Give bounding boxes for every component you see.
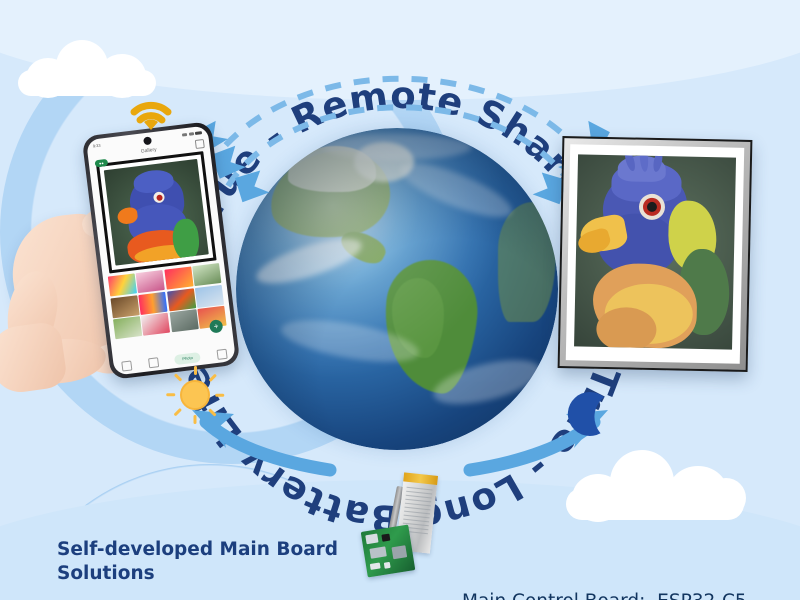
status-time: 9:33 [92,143,100,149]
list-item [167,288,196,311]
phone-hero-photo[interactable] [96,151,217,273]
list-item [136,270,165,293]
phone-app-title: Gallery [140,146,156,154]
list-item [195,284,224,307]
digital-photo-frame[interactable] [558,136,753,372]
frame-parrot-photo [574,154,736,349]
hero-parrot-photo [104,159,209,266]
poster-canvas: True - Remote Sharing True - Long Batter… [0,0,800,600]
list-item [139,291,168,314]
nav-item-right[interactable] [216,349,227,360]
spec-main-control-board: Main Control Board: ESP32-C5 [462,589,792,600]
list-item [164,266,193,289]
list-item [108,273,137,296]
list-item [113,316,142,339]
frame-border [558,136,753,372]
moon-icon [560,388,614,442]
caption-right: Main Control Board: ESP32-C5 Battery: 50… [462,536,792,600]
list-item [169,309,198,332]
cast-icon[interactable] [195,139,205,149]
hardware-group [362,470,454,582]
nav-item-left[interactable] [122,360,133,371]
arrow-top-dashed-inner [228,107,572,186]
list-item [141,313,170,336]
wifi-icon [124,92,178,134]
sun-icon [166,366,224,424]
nav-item-mid[interactable] [148,357,159,368]
caption-left: Self-developed Main Board Solutions [57,538,357,585]
add-photo-button[interactable]: + [209,319,223,333]
phone-thumbnail-grid[interactable] [108,263,227,339]
list-item [110,295,139,318]
arrow-top-dashed-outer [208,79,592,168]
nav-item-photo[interactable]: Photo [174,352,201,365]
main-control-board-pcb [361,525,416,578]
caption-left-line1: Self-developed Main Board [57,538,357,562]
phone-screen[interactable]: 9:33 ●● Gallery [86,125,236,375]
caption-left-line2: Solutions [57,562,357,586]
list-item [192,263,221,286]
